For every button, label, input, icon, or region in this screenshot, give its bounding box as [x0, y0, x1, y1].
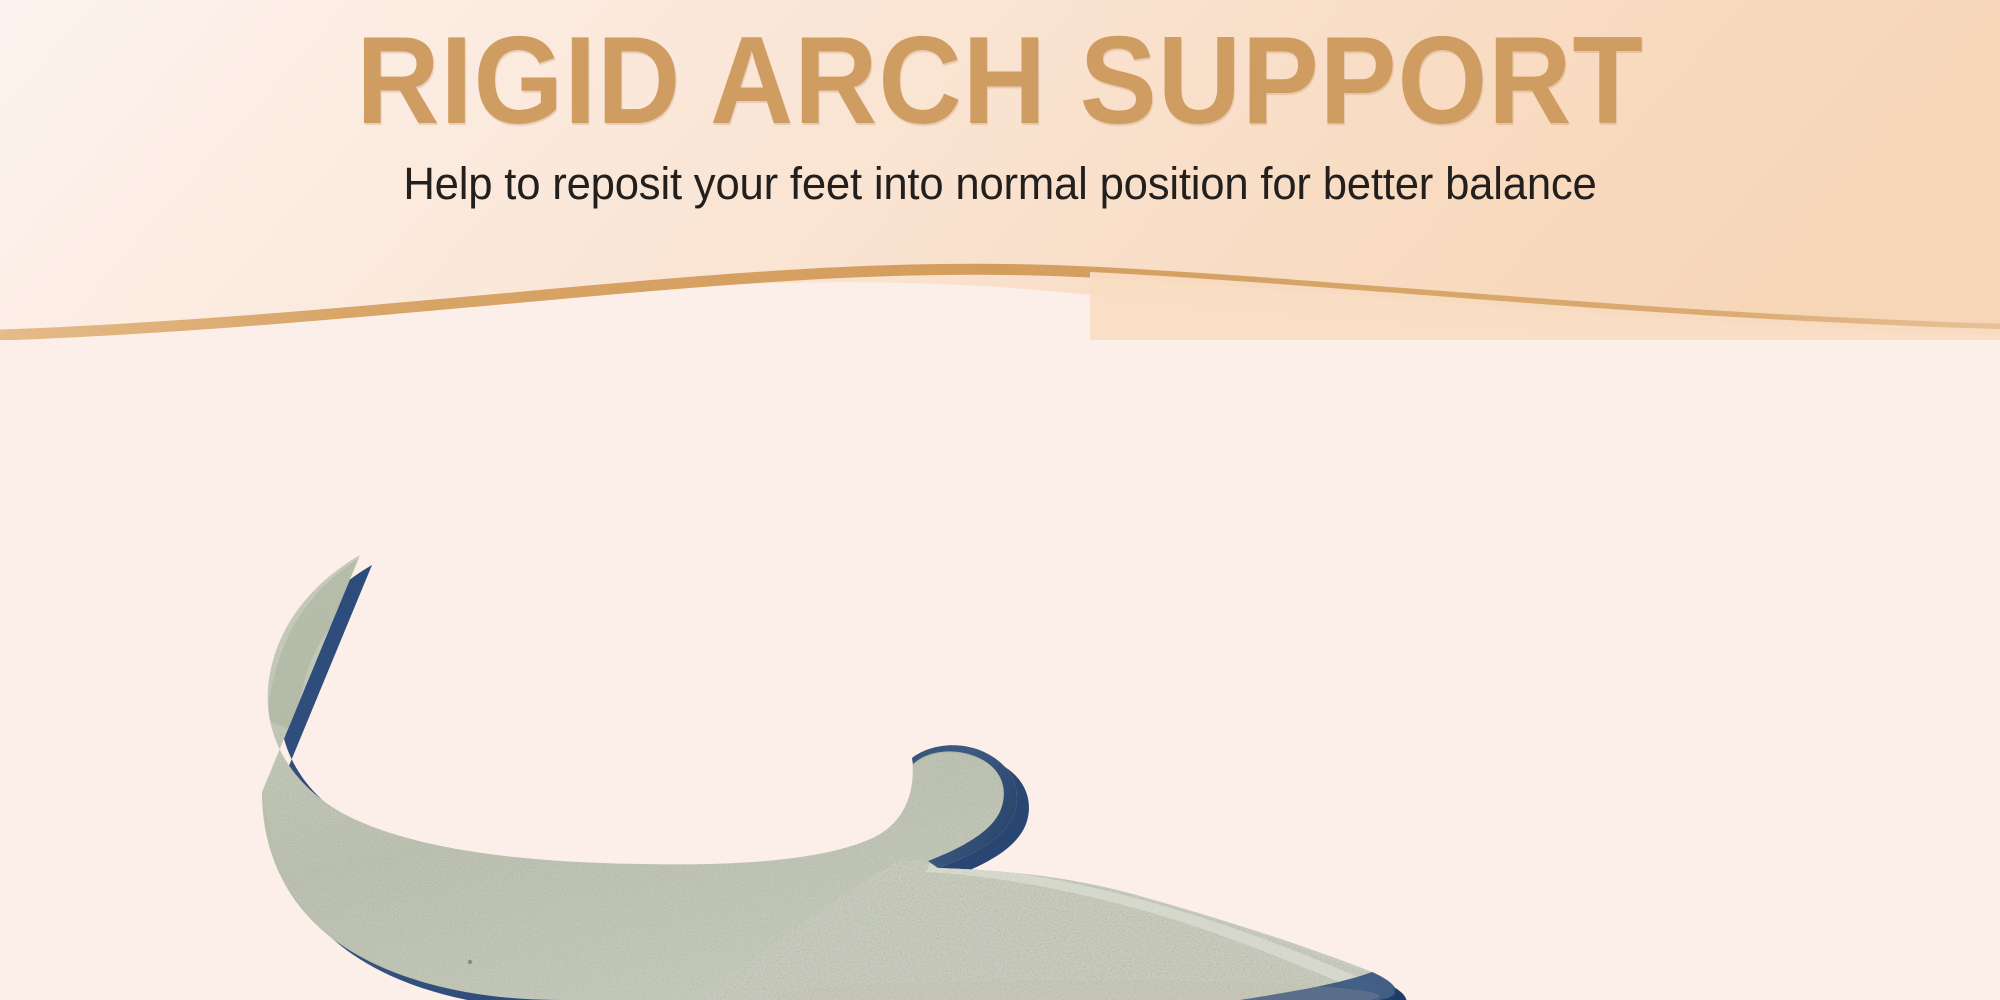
insole-illustration — [0, 340, 2000, 1000]
arch-valley-shadow — [330, 628, 918, 738]
rim-shadow — [268, 523, 908, 732]
header-band — [0, 0, 2000, 340]
header-background-graphic — [0, 0, 2000, 340]
product-image — [0, 340, 2000, 1000]
banner-canvas: RIGID ARCH SUPPORT Help to reposit your … — [0, 0, 2000, 1000]
header-fill — [0, 0, 2000, 340]
fleck — [347, 973, 353, 979]
arch-sheen — [300, 590, 980, 890]
fleck — [468, 960, 472, 964]
